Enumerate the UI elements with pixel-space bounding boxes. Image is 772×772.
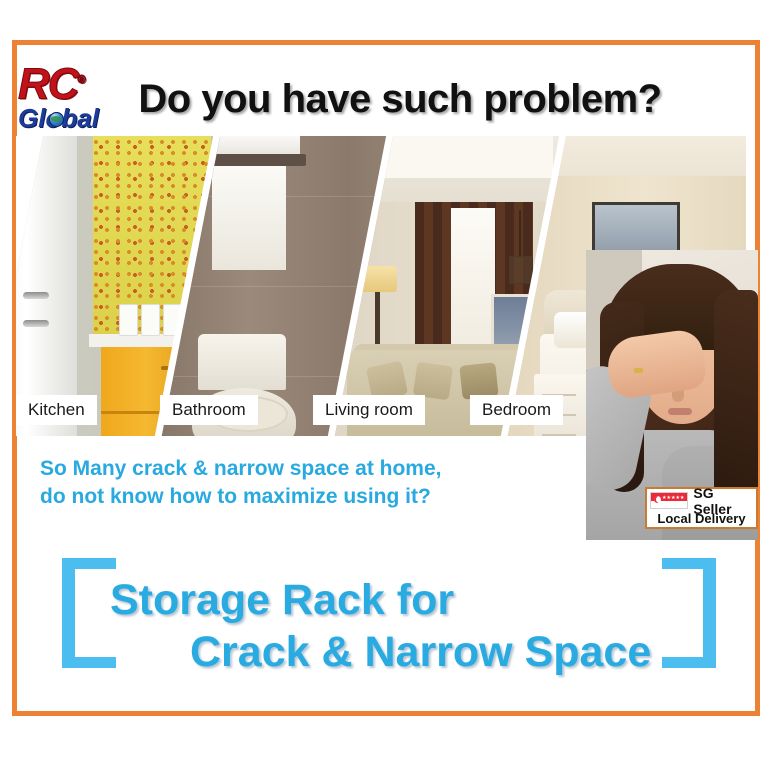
white-cabinet [16,136,78,436]
advertisement-canvas: RC® Global Do you have such problem? [0,0,772,772]
brand-logo: RC® Global [18,58,110,136]
product-title-line-1: Storage Rack for [55,574,695,626]
pendant-lamp [509,256,533,284]
singapore-flag-icon: ★★★★★ [650,492,688,509]
page-title: Do you have such problem? [120,72,680,126]
room-label-living-room: Living room [313,395,425,425]
floor-lamp [359,266,397,292]
product-title: Storage Rack for Crack & Narrow Space [55,574,695,678]
logo-global-text: Global [18,105,110,132]
room-label-bedroom: Bedroom [470,395,563,425]
room-label-kitchen: Kitchen [16,395,97,425]
problem-description: So Many crack & narrow space at home, do… [40,455,560,511]
registered-trademark-icon: ® [78,74,84,86]
logo-rc-text: RC® [18,58,110,107]
room-label-bathroom: Bathroom [160,395,258,425]
logo-rc-label: RC [18,60,78,109]
problem-line-2: do not know how to maximize using it? [40,483,560,511]
status-badge: ★★★★★ SG Seller Local Delivery [645,487,758,529]
hanging-towel [212,166,286,270]
problem-line-1: So Many crack & narrow space at home, [40,455,560,483]
product-title-line-2: Crack & Narrow Space [55,626,695,678]
globe-icon [49,112,64,127]
local-delivery-label: Local Delivery [650,510,753,528]
flag-stars: ★★★★★ [662,496,684,501]
